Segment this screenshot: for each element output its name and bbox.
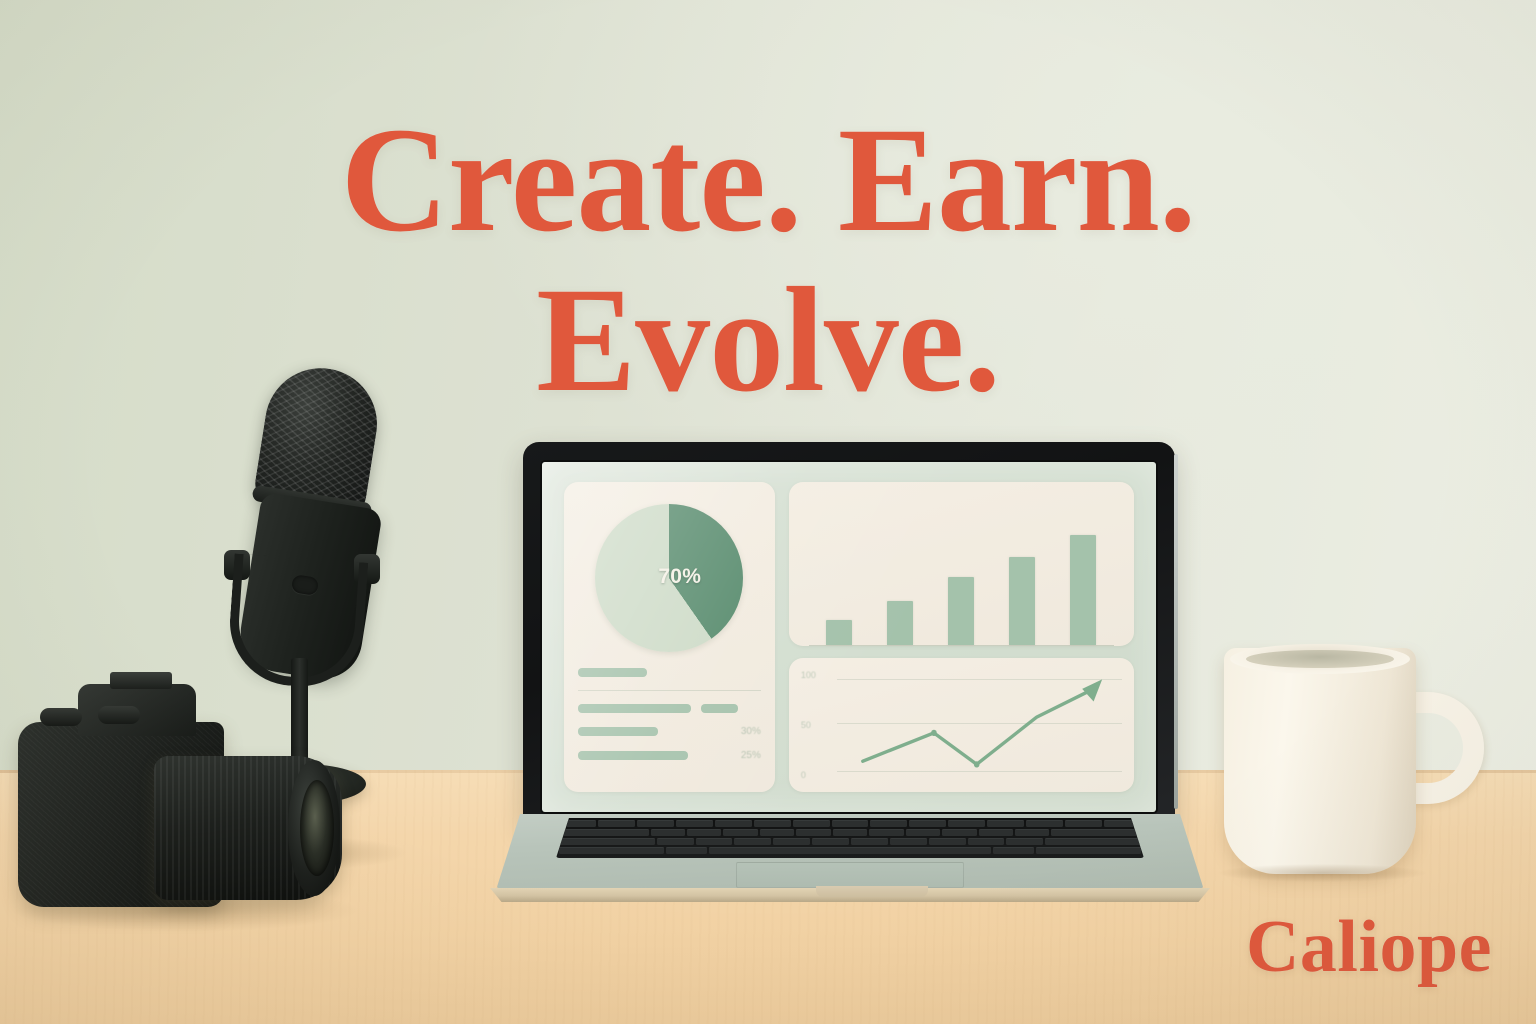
keyboard-row <box>556 829 1144 836</box>
brand-logo: Caliope <box>1246 905 1492 990</box>
line-chart-svg <box>837 670 1122 780</box>
keyboard-row <box>556 820 1144 827</box>
laptop-bezel: 70% <box>540 460 1158 814</box>
laptop-screen[interactable]: 70% <box>542 462 1156 812</box>
hero-banner: Create. Earn. Evolve. <box>0 0 1536 1024</box>
pie-chart-graphic: 70% <box>595 504 743 652</box>
laptop-lid: 70% <box>523 442 1175 824</box>
laptop-keyboard[interactable] <box>556 818 1144 858</box>
list-item: 25% <box>578 750 761 761</box>
y-tick-label: 100 <box>801 670 835 680</box>
y-tick-label: 0 <box>801 770 835 780</box>
headline-line-1: Create. Earn. <box>0 108 1536 254</box>
bar-4 <box>1009 557 1035 645</box>
dashboard-right-column: 100 50 0 <box>789 482 1134 792</box>
line-chart-card[interactable]: 100 50 0 <box>789 658 1134 792</box>
bar-5 <box>1070 535 1096 645</box>
list-item <box>578 668 761 677</box>
bar-3 <box>948 577 974 645</box>
keyboard-row <box>556 838 1144 845</box>
bar-chart <box>809 498 1114 646</box>
dashboard-left-column: 70% <box>564 482 775 792</box>
laptop-base <box>478 814 1222 918</box>
pie-chart-card[interactable]: 70% <box>564 482 775 792</box>
keyboard-row <box>556 847 1144 854</box>
y-tick-label: 50 <box>801 720 835 730</box>
list-item-value: 30% <box>741 726 761 737</box>
line-chart-y-axis: 100 50 0 <box>801 670 835 780</box>
divider <box>578 690 761 691</box>
laptop-lid-notch <box>816 886 928 897</box>
camera-lens-glass <box>300 780 334 876</box>
camera-grip <box>20 748 70 768</box>
metrics-list: 30% 25% <box>578 668 761 774</box>
bar-1 <box>826 620 852 645</box>
pie-chart-value-label: 70% <box>658 565 701 589</box>
dslr-camera <box>4 660 374 928</box>
list-item <box>578 704 761 713</box>
bar-chart-card[interactable] <box>789 482 1134 646</box>
list-item: 30% <box>578 726 761 737</box>
laptop-computer: 70% <box>478 442 1222 942</box>
camera-shutter-dial <box>98 706 140 724</box>
list-item-value: 25% <box>741 750 761 761</box>
pie-chart: 70% <box>578 498 761 652</box>
laptop-trackpad[interactable] <box>736 862 964 888</box>
mug-body <box>1224 648 1416 874</box>
camera-mode-dial <box>40 708 82 726</box>
coffee-mug <box>1224 648 1490 888</box>
mug-interior <box>1246 650 1394 668</box>
bar-2 <box>887 601 913 645</box>
camera-hot-shoe <box>110 672 172 689</box>
analytics-dashboard: 70% <box>542 462 1156 812</box>
line-chart-plot <box>837 670 1122 780</box>
mug-shadow <box>1218 864 1426 882</box>
